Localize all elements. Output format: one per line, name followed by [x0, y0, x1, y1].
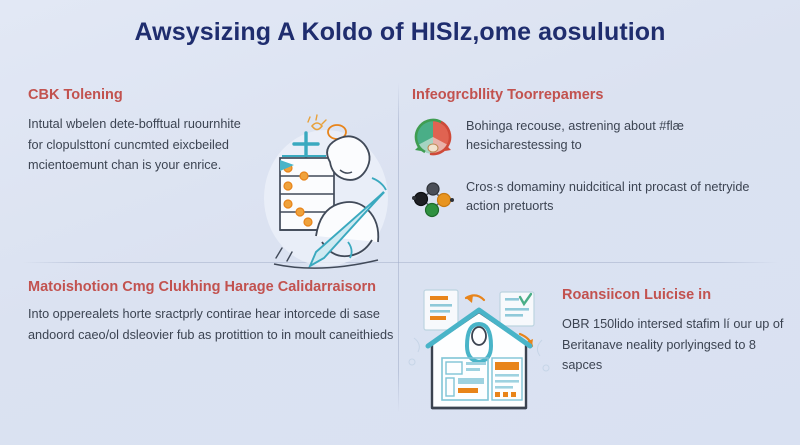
bottom-right-body: OBR 150lido intersed stafim lí our up of…	[562, 314, 788, 377]
bottom-left-body: Into opperealets horte sractprly contira…	[28, 304, 394, 346]
quadrant-bottom-right: Roansiicon Luicise in OBR 150lido inters…	[556, 286, 788, 376]
network-nodes-icon	[410, 176, 456, 222]
top-right-heading: Infeogrcbllity Toorrepamers	[412, 86, 784, 105]
pie-chart-icon	[410, 115, 456, 161]
bottom-right-heading: Roansiicon Luicise in	[562, 286, 788, 305]
person-writing-sketch-illustration	[252, 114, 398, 274]
smart-home-dashboard-illustration	[404, 282, 554, 424]
top-left-body: Intutal wbelen dete-bofftual ruournhite …	[28, 114, 250, 177]
bottom-left-heading: Matoishotion Cmg Clukhing Harage Calidar…	[28, 278, 400, 297]
list-item: Cros·s domaminy nuidcitical int procast …	[410, 175, 784, 222]
quadrant-top-left: CBK Tolening Intutal wbelen dete-bofftua…	[22, 86, 400, 258]
infographic-canvas: Awsysizing A Koldo of HISlz,ome aosuluti…	[0, 0, 800, 445]
page-title-text: Awsysizing A Koldo of HISlz,ome aosuluti…	[0, 18, 800, 47]
bullet-text-1: Bohinga recouse, astrening about #flæ he…	[466, 114, 784, 156]
quadrant-top-right: Infeogrcbllity Toorrepamers Bohinga reco…	[406, 86, 784, 258]
list-item: Bohinga recouse, astrening about #flæ he…	[410, 114, 784, 161]
page-title: Awsysizing A Koldo of HISlz,ome aosuluti…	[0, 18, 800, 47]
top-left-heading: CBK Tolening	[28, 86, 400, 105]
bullet-text-2: Cros·s domaminy nuidcitical int procast …	[466, 175, 784, 217]
quadrant-bottom-left: Matoishotion Cmg Clukhing Harage Calidar…	[22, 278, 400, 428]
